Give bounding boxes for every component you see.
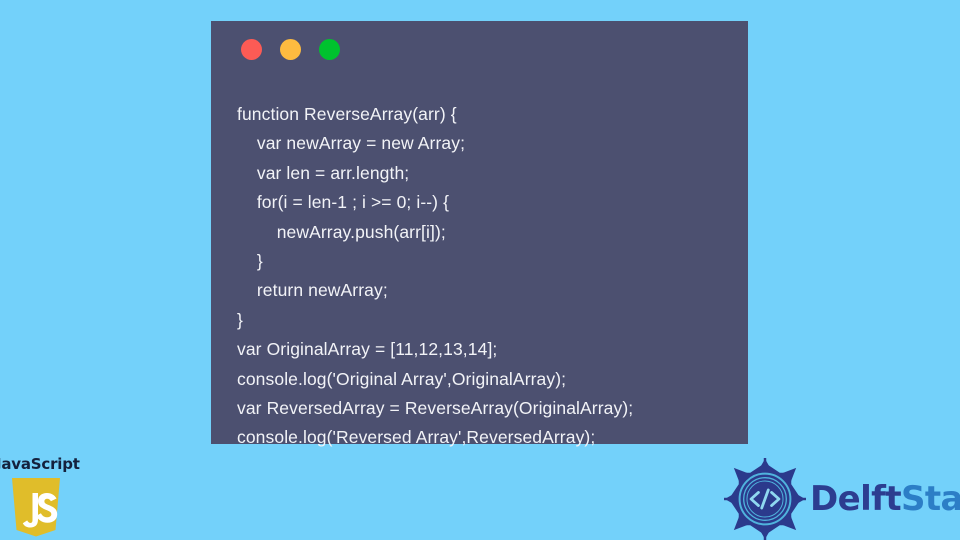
code-line: console.log('Reversed Array',ReversedArr… (237, 423, 722, 452)
code-line: var len = arr.length; (237, 159, 722, 188)
delftstack-wordmark: DelftStack (810, 479, 960, 519)
code-line: for(i = len-1 ; i >= 0; i--) { (237, 188, 722, 217)
code-line: newArray.push(arr[i]); (237, 218, 722, 247)
code-card: function ReverseArray(arr) { var newArra… (211, 21, 748, 444)
javascript-shield-icon (8, 476, 64, 538)
code-line: var ReversedArray = ReverseArray(Origina… (237, 394, 722, 423)
code-line: var newArray = new Array; (237, 129, 722, 158)
window-controls (241, 39, 340, 60)
delftstack-wordmark-part2: Stack (901, 479, 960, 519)
delftstack-emblem-icon (724, 458, 806, 540)
maximize-window-dot[interactable] (319, 39, 340, 60)
code-snippet: function ReverseArray(arr) { var newArra… (211, 100, 748, 453)
javascript-brand: JavaScript (0, 455, 80, 540)
delftstack-brand: DelftStack (724, 457, 960, 540)
close-window-dot[interactable] (241, 39, 262, 60)
code-line: function ReverseArray(arr) { (237, 100, 722, 129)
code-line: } (237, 306, 722, 335)
delftstack-wordmark-part1: Delft (810, 479, 901, 519)
code-line: var OriginalArray = [11,12,13,14]; (237, 335, 722, 364)
code-line: return newArray; (237, 276, 722, 305)
javascript-wordmark: JavaScript (0, 455, 80, 473)
code-line: console.log('Original Array',OriginalArr… (237, 365, 722, 394)
minimize-window-dot[interactable] (280, 39, 301, 60)
code-line: } (237, 247, 722, 276)
